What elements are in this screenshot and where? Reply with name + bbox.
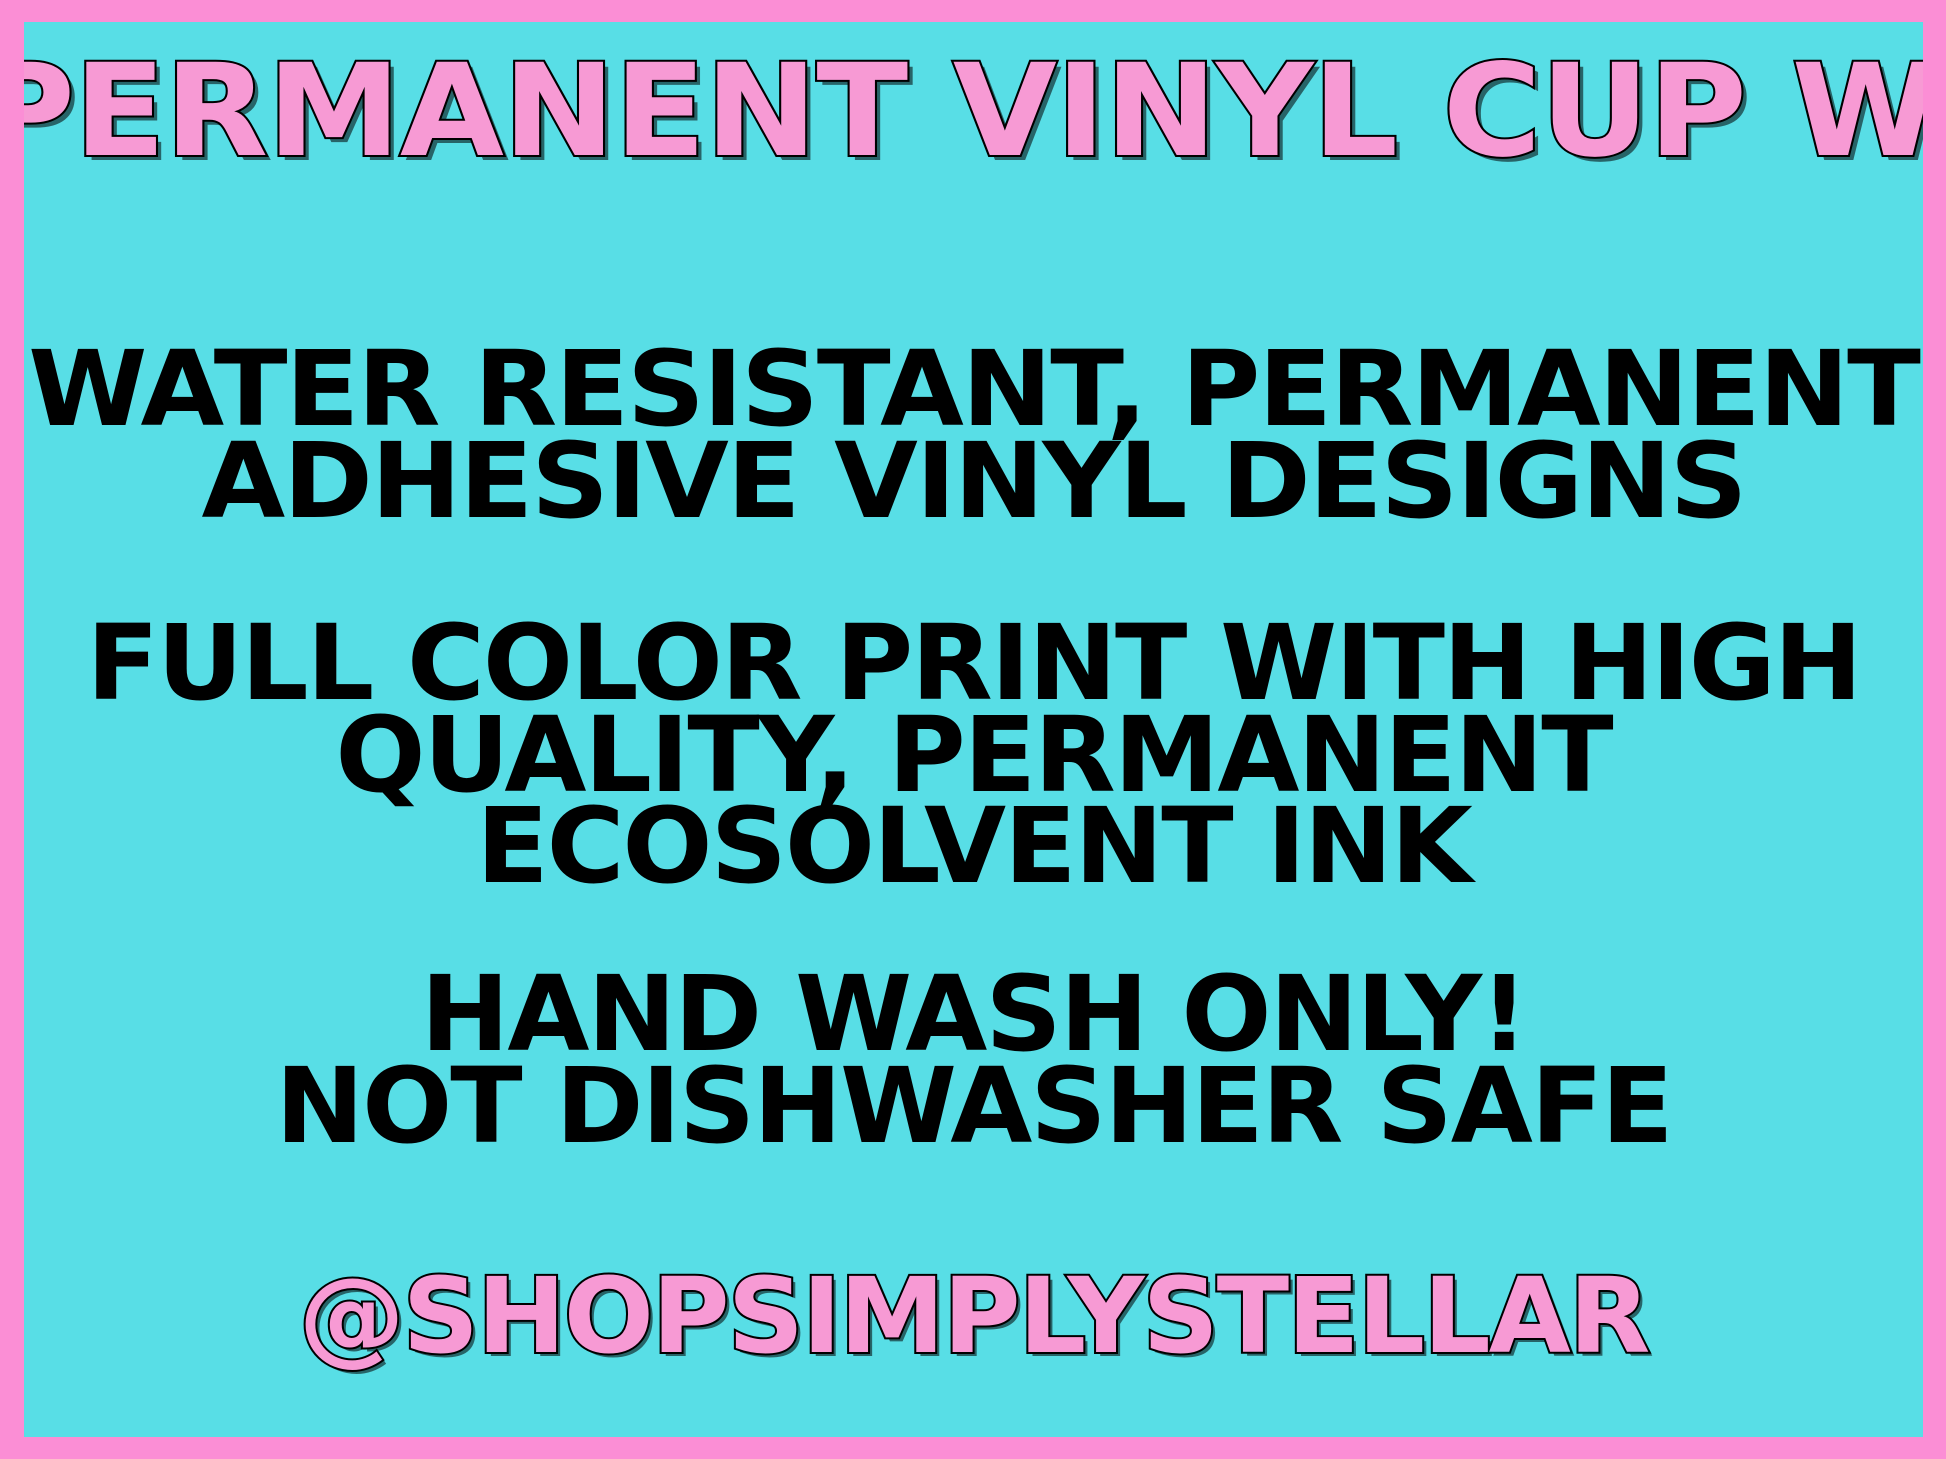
- poster-inner-canvas: PERMANENT VINYL CUP WRAP WATER RESISTANT…: [24, 22, 1923, 1437]
- poster-graphic: PERMANENT VINYL CUP WRAP WATER RESISTANT…: [0, 0, 1946, 1459]
- print-quality-text-block: FULL COLOR PRINT WITH HIGH QUALITY, PERM…: [24, 618, 1923, 893]
- care-line-2: NOT DISHWASHER SAFE: [24, 1061, 1923, 1153]
- print-line-3: ECOSOLVENT INK: [24, 801, 1923, 893]
- feature-line-2: ADHESIVE VINYL DESIGNS: [24, 436, 1923, 528]
- social-handle: @SHOPSIMPLYSTELLAR: [24, 1264, 1923, 1368]
- care-instructions-text-block: HAND WASH ONLY! NOT DISHWASHER SAFE: [24, 969, 1923, 1152]
- page-title: PERMANENT VINYL CUP WRAP: [24, 48, 1923, 176]
- feature-text-block: WATER RESISTANT, PERMANENT ADHESIVE VINY…: [24, 344, 1923, 527]
